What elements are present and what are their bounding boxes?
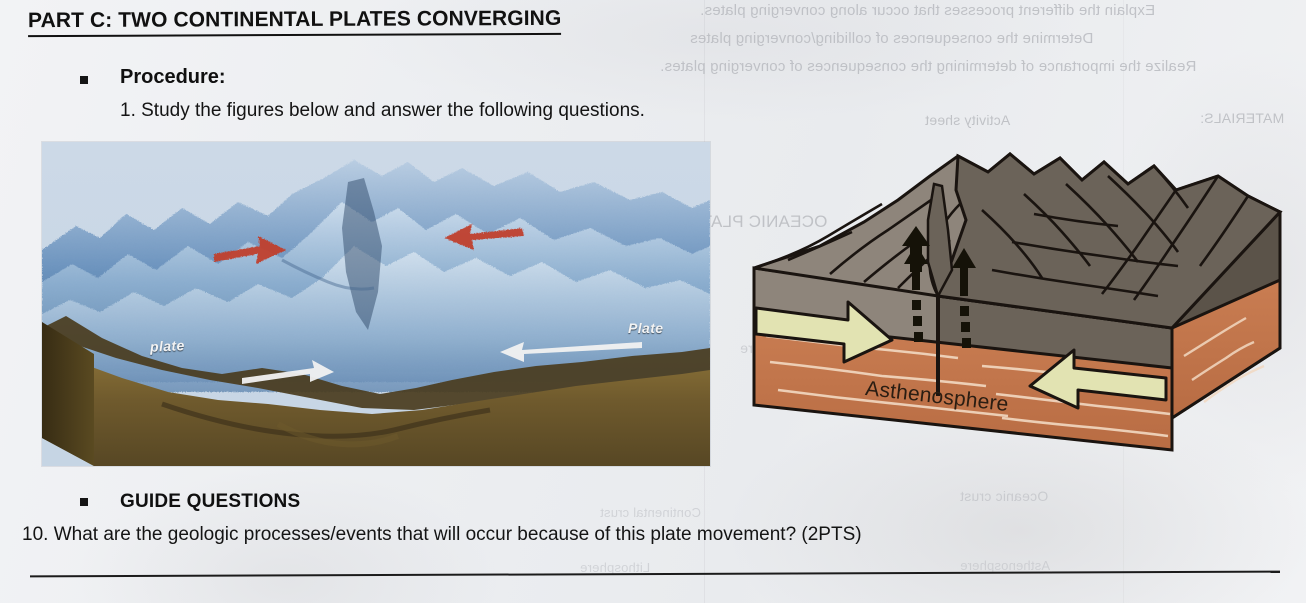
relief-model-graphic — [42, 142, 710, 466]
answer-line[interactable] — [30, 571, 1280, 578]
procedure-step-1: 1. Study the figures below and answer th… — [120, 100, 645, 122]
figure-relief-model: plate Plate — [42, 142, 710, 466]
figure-collision-block-diagram — [752, 150, 1292, 485]
plate-label-right: Plate — [628, 320, 663, 336]
square-bullet-icon — [80, 76, 88, 84]
guide-question-10: 10. What are the geologic processes/even… — [22, 524, 862, 546]
procedure-heading: Procedure: — [120, 66, 226, 89]
page-title: PART C: TWO CONTINENTAL PLATES CONVERGIN… — [28, 7, 561, 37]
square-bullet-icon — [80, 498, 88, 506]
collision-diagram-graphic — [752, 150, 1292, 485]
show-through-line: Determine the consequences of colliding/… — [690, 30, 1093, 47]
guide-questions-heading: GUIDE QUESTIONS — [120, 491, 300, 513]
show-through-line: MATERIALS: — [1200, 110, 1284, 126]
show-through-line: Realize the importance of determining th… — [660, 58, 1196, 75]
show-through-line: Oceanic crust — [960, 488, 1048, 504]
plate-label-left: plate — [150, 337, 185, 355]
show-through-line: Continental crust — [600, 505, 701, 520]
show-through-line: Explain the different processes that occ… — [700, 2, 1155, 19]
show-through-line: Activity sheet — [925, 112, 1010, 128]
